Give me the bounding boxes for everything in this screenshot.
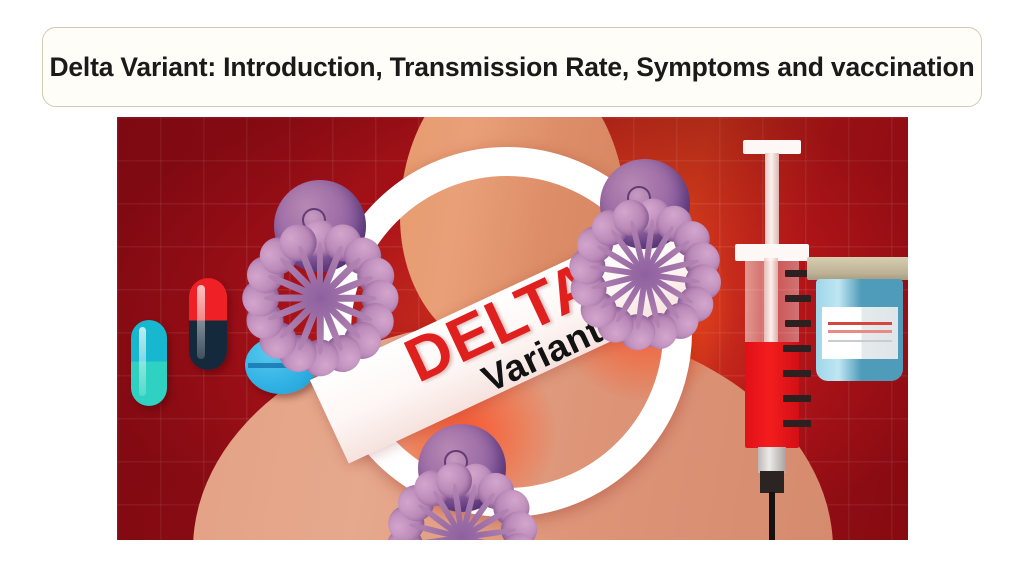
red-navy-capsule-icon [189, 278, 227, 370]
syringe-hub [758, 447, 786, 473]
capsule-highlight [197, 285, 205, 359]
syringe-plunger-top [743, 140, 801, 154]
vial-label-line [828, 330, 892, 333]
vial-label-line [828, 322, 892, 325]
title-banner: Delta Variant: Introduction, Transmissio… [42, 27, 982, 107]
syringe-icon [729, 140, 815, 518]
vial-label [822, 307, 898, 359]
page-title: Delta Variant: Introduction, Transmissio… [49, 52, 974, 83]
syringe-collar [760, 471, 784, 493]
syringe-plunger-rod [765, 153, 779, 246]
vial-label-line [828, 340, 892, 342]
coronavirus-particle-bottom [383, 389, 541, 540]
syringe-inner-rod [764, 258, 778, 345]
delta-variant-illustration: DELTA Variant [117, 117, 908, 540]
capsule-highlight [139, 327, 146, 396]
teal-capsule-icon [131, 320, 167, 406]
syringe-needle [769, 492, 775, 540]
coronavirus-particle-left [238, 144, 402, 308]
vial-cap [807, 257, 908, 280]
vaccine-vial-icon [807, 257, 908, 382]
coronavirus-particle-top-right [565, 124, 725, 284]
vial-body [816, 279, 903, 381]
